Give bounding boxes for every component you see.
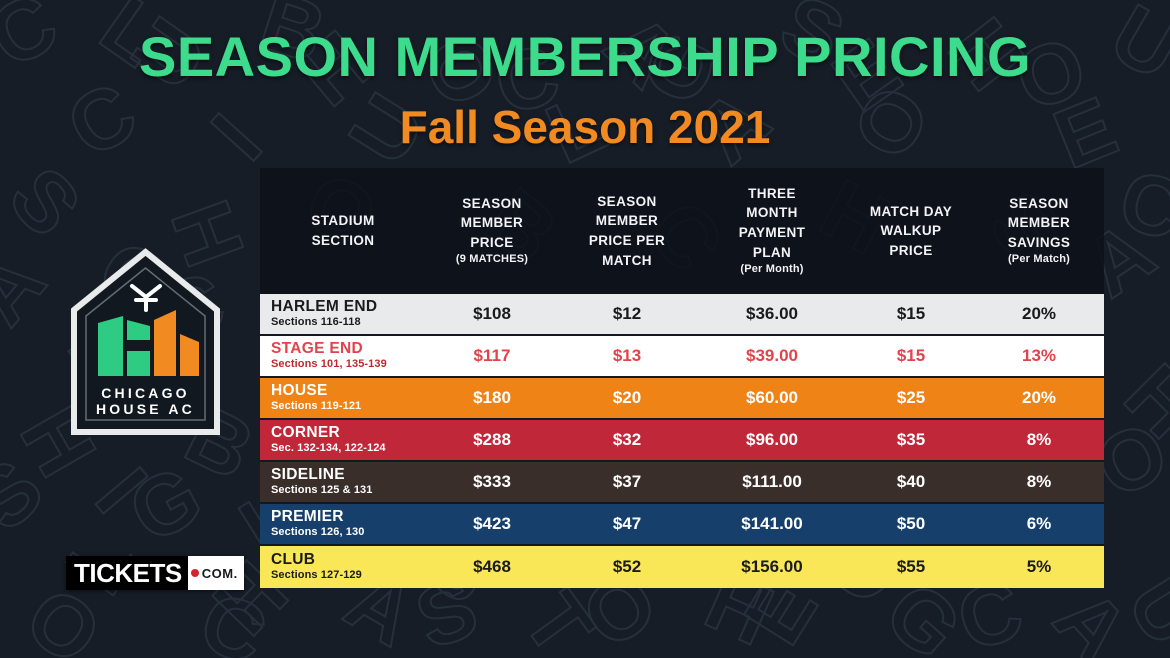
three-month-plan-cell: $111.00: [696, 472, 848, 492]
table-row: PREMIERSections 126, 130$423$47$141.00$5…: [260, 504, 1104, 546]
savings-cell: 20%: [974, 304, 1104, 324]
section-name-cell: STAGE ENDSections 101, 135-139: [260, 341, 426, 371]
section-name: HARLEM END: [271, 299, 422, 316]
header-line: (9 MATCHES): [430, 252, 554, 268]
savings-cell: 8%: [974, 430, 1104, 450]
page-subtitle: Fall Season 2021: [0, 103, 1170, 151]
season-member-price-cell: $117: [426, 346, 558, 366]
section-numbers: Sections 116-118: [271, 317, 422, 329]
header-line: PAYMENT: [700, 223, 844, 243]
section-name: CORNER: [271, 425, 422, 442]
header-line: PRICE PER: [562, 231, 692, 251]
price-per-match-cell: $32: [558, 430, 696, 450]
walkup-price-cell: $40: [848, 472, 974, 492]
three-month-plan-cell: $141.00: [696, 514, 848, 534]
section-numbers: Sections 127-129: [271, 570, 422, 582]
header-line: STADIUM: [264, 211, 422, 231]
header-line: MATCH DAY: [852, 202, 970, 222]
savings-cell: 20%: [974, 388, 1104, 408]
price-per-match-cell: $20: [558, 388, 696, 408]
section-numbers: Sections 101, 135-139: [271, 359, 422, 371]
section-name: STAGE END: [271, 341, 422, 358]
walkup-price-cell: $15: [848, 304, 974, 324]
tickets-dot-box: COM.: [188, 556, 244, 590]
price-per-match-cell: $37: [558, 472, 696, 492]
three-month-plan-cell: $96.00: [696, 430, 848, 450]
season-member-price-cell: $423: [426, 514, 558, 534]
header-line: MONTH: [700, 203, 844, 223]
header-line: (Per Match): [978, 252, 1100, 268]
three-month-plan-cell: $39.00: [696, 346, 848, 366]
savings-cell: 8%: [974, 472, 1104, 492]
header-line: MEMBER: [430, 213, 554, 233]
season-member-price-cell: $288: [426, 430, 558, 450]
header-line: SAVINGS: [978, 233, 1100, 253]
section-name-cell: CLUBSections 127-129: [260, 552, 426, 582]
three-month-plan-cell: $156.00: [696, 557, 848, 577]
header-line: WALKUP: [852, 221, 970, 241]
header-line: SEASON: [430, 194, 554, 214]
three-month-plan-cell: $36.00: [696, 304, 848, 324]
three-month-plan-cell: $60.00: [696, 388, 848, 408]
column-header-5: SEASON MEMBERSAVINGS(Per Match): [974, 194, 1104, 269]
section-name-cell: SIDELINESections 125 & 131: [260, 467, 426, 497]
walkup-price-cell: $35: [848, 430, 974, 450]
section-numbers: Sections 119-121: [271, 401, 422, 413]
section-name-cell: HARLEM ENDSections 116-118: [260, 299, 426, 329]
section-numbers: Sections 125 & 131: [271, 485, 422, 497]
price-per-match-cell: $47: [558, 514, 696, 534]
chicago-house-ac-crest: CHICAGO HOUSE AC: [68, 248, 223, 438]
pricing-table: STADIUMSECTIONSEASONMEMBERPRICE(9 MATCHE…: [260, 168, 1104, 588]
header-line: SEASON: [562, 192, 692, 212]
header-line: SECTION: [264, 231, 422, 251]
header-line: MATCH: [562, 251, 692, 271]
price-per-match-cell: $12: [558, 304, 696, 324]
tickets-com-logo: TICKETS COM.: [66, 556, 244, 590]
table-row: CORNERSec. 132-134, 122-124$288$32$96.00…: [260, 420, 1104, 462]
savings-cell: 13%: [974, 346, 1104, 366]
header-line: SEASON MEMBER: [978, 194, 1100, 233]
table-row: HARLEM ENDSections 116-118$108$12$36.00$…: [260, 294, 1104, 336]
red-dot-icon: [191, 569, 199, 577]
tickets-com-text: COM.: [202, 567, 238, 580]
header-line: PRICE: [430, 233, 554, 253]
crest-line2: HOUSE AC: [96, 401, 195, 417]
savings-cell: 6%: [974, 514, 1104, 534]
table-body: HARLEM ENDSections 116-118$108$12$36.00$…: [260, 294, 1104, 588]
season-member-price-cell: $108: [426, 304, 558, 324]
title-block: SEASON MEMBERSHIP PRICING Fall Season 20…: [0, 28, 1170, 151]
section-numbers: Sections 126, 130: [271, 527, 422, 539]
section-name-cell: HOUSESections 119-121: [260, 383, 426, 413]
header-line: PRICE: [852, 241, 970, 261]
crest-line1: CHICAGO: [101, 385, 190, 401]
pricing-graphic: C L U B H O C A G S E H O U S C H I O U: [0, 0, 1170, 658]
table-row: CLUBSections 127-129$468$52$156.00$555%: [260, 546, 1104, 588]
column-header-2: SEASONMEMBERPRICE PERMATCH: [558, 192, 696, 270]
season-member-price-cell: $468: [426, 557, 558, 577]
savings-cell: 5%: [974, 557, 1104, 577]
walkup-price-cell: $50: [848, 514, 974, 534]
section-name-cell: CORNERSec. 132-134, 122-124: [260, 425, 426, 455]
section-name: HOUSE: [271, 383, 422, 400]
column-header-0: STADIUMSECTION: [260, 211, 426, 250]
walkup-price-cell: $25: [848, 388, 974, 408]
page-title: SEASON MEMBERSHIP PRICING: [0, 28, 1170, 87]
section-numbers: Sec. 132-134, 122-124: [271, 443, 422, 455]
season-member-price-cell: $333: [426, 472, 558, 492]
header-line: PLAN: [700, 243, 844, 263]
price-per-match-cell: $13: [558, 346, 696, 366]
section-name: SIDELINE: [271, 467, 422, 484]
table-row: HOUSESections 119-121$180$20$60.00$2520%: [260, 378, 1104, 420]
column-header-4: MATCH DAYWALKUPPRICE: [848, 202, 974, 261]
section-name-cell: PREMIERSections 126, 130: [260, 509, 426, 539]
header-line: (Per Month): [700, 262, 844, 278]
column-header-3: THREEMONTHPAYMENTPLAN(Per Month): [696, 184, 848, 278]
section-name: PREMIER: [271, 509, 422, 526]
walkup-price-cell: $15: [848, 346, 974, 366]
header-line: MEMBER: [562, 211, 692, 231]
tickets-wordmark: TICKETS: [66, 556, 188, 590]
header-line: THREE: [700, 184, 844, 204]
walkup-price-cell: $55: [848, 557, 974, 577]
season-member-price-cell: $180: [426, 388, 558, 408]
section-name: CLUB: [271, 552, 422, 569]
table-row: SIDELINESections 125 & 131$333$37$111.00…: [260, 462, 1104, 504]
column-header-1: SEASONMEMBERPRICE(9 MATCHES): [426, 194, 558, 269]
table-header-row: STADIUMSECTIONSEASONMEMBERPRICE(9 MATCHE…: [260, 168, 1104, 294]
price-per-match-cell: $52: [558, 557, 696, 577]
table-row: STAGE ENDSections 101, 135-139$117$13$39…: [260, 336, 1104, 378]
